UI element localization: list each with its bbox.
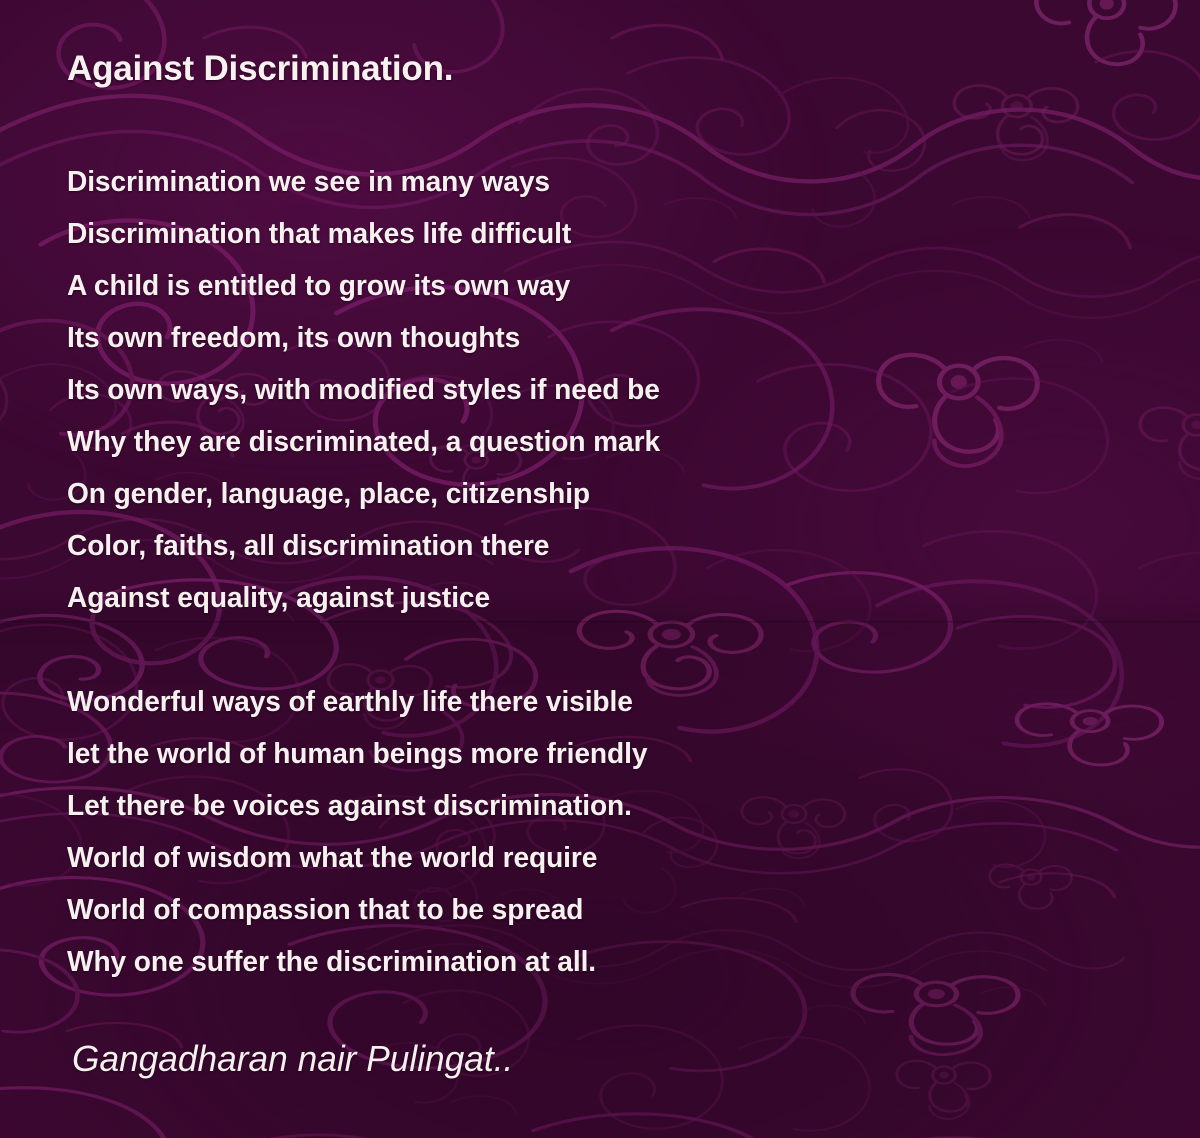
poem-line: Let there be voices against discriminati… — [67, 780, 1095, 832]
poem-line: Wonderful ways of earthly life there vis… — [67, 676, 1095, 728]
poem-line: Against equality, against justice — [67, 572, 1095, 624]
poem-line: Why one suffer the discrimination at all… — [67, 936, 1095, 988]
poem-body: Discrimination we see in many ways Discr… — [67, 156, 1127, 988]
poem-line: On gender, language, place, citizenship — [67, 468, 1095, 520]
poem-line: A child is entitled to grow its own way — [67, 260, 1095, 312]
poem-line: Discrimination we see in many ways — [67, 156, 1095, 208]
poem-image-card: Against Discrimination. Discrimination w… — [0, 0, 1200, 1138]
poem-title: Against Discrimination. — [67, 49, 453, 89]
poem-line: Color, faiths, all discrimination there — [67, 520, 1095, 572]
poem-line: let the world of human beings more frien… — [67, 728, 1095, 780]
poem-stanza-2: Wonderful ways of earthly life there vis… — [67, 676, 1127, 988]
poem-line: Discrimination that makes life difficult — [67, 208, 1095, 260]
poem-line: Its own freedom, its own thoughts — [67, 312, 1095, 364]
poem-line: World of wisdom what the world require — [67, 832, 1095, 884]
poem-line: Why they are discriminated, a question m… — [67, 416, 1095, 468]
poem-author-signature: Gangadharan nair Pulingat.. — [72, 1038, 513, 1080]
poem-line: World of compassion that to be spread — [67, 884, 1095, 936]
poem-stanza-1: Discrimination we see in many ways Discr… — [67, 156, 1127, 624]
poem-line: Its own ways, with modified styles if ne… — [67, 364, 1095, 416]
